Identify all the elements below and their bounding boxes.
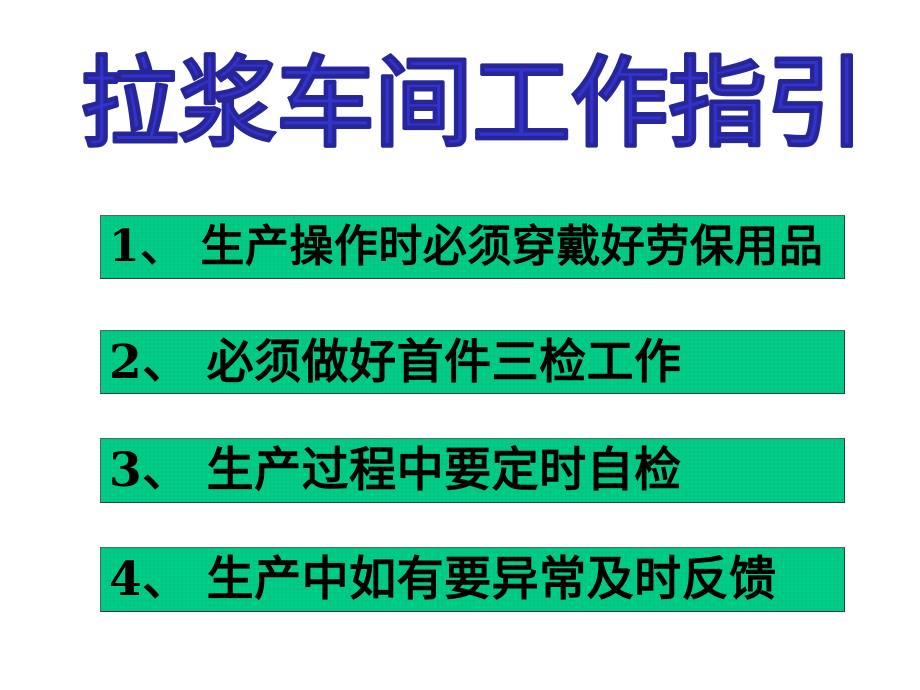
bullet-text-4: 4、 生产中如有要异常及时反馈 (101, 556, 783, 603)
bullet-list: 1、 生产操作时必须穿戴好劳保用品 2、 必须做好首件三检工作 3、 生产过程中… (0, 0, 920, 690)
slide-canvas: 拉浆车间工作指引 1、 生产操作时必须穿戴好劳保用品 2、 必须做好首件三检工作… (0, 0, 920, 690)
bullet-box-2[interactable]: 2、 必须做好首件三检工作 (100, 330, 845, 394)
bullet-box-1[interactable]: 1、 生产操作时必须穿戴好劳保用品 (100, 215, 845, 279)
bullet-box-4[interactable]: 4、 生产中如有要异常及时反馈 (100, 547, 845, 612)
bullet-box-3[interactable]: 3、 生产过程中要定时自检 (100, 438, 845, 503)
bullet-text-1: 1、 生产操作时必须穿戴好劳保用品 (101, 225, 829, 269)
bullet-text-2: 2、 必须做好首件三检工作 (101, 339, 688, 386)
bullet-text-3: 3、 生产过程中要定时自检 (101, 447, 688, 494)
